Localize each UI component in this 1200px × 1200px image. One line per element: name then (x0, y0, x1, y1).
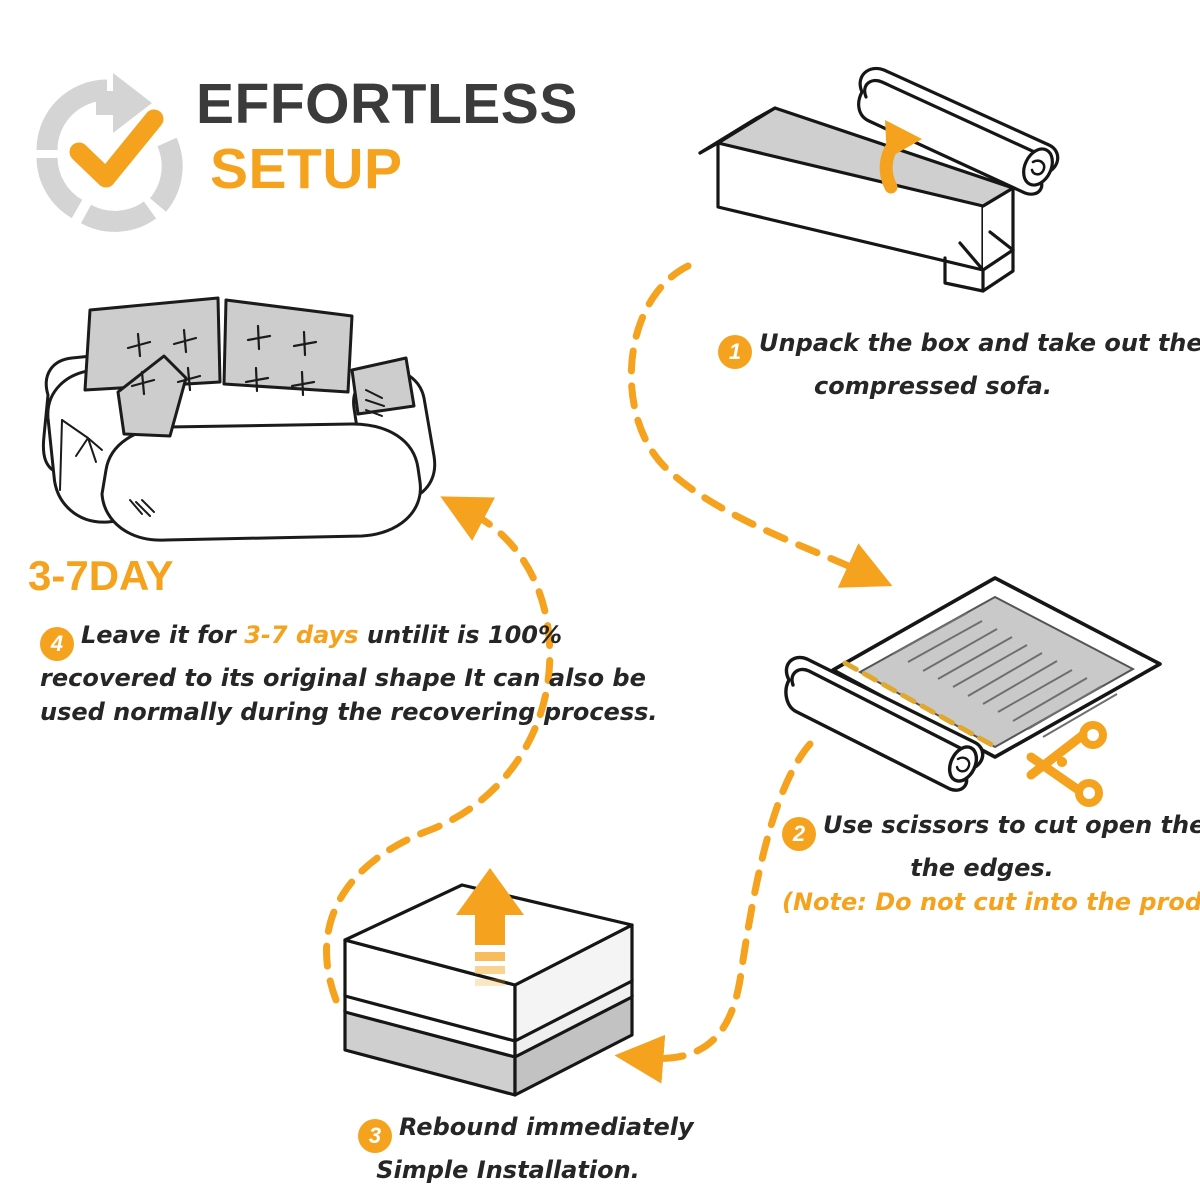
step-1-text-line-1: Unpack the box and take out the (759, 329, 1200, 357)
scissors-icon (1031, 725, 1103, 803)
page-title-line2: SETUP (210, 141, 626, 198)
step-4-line-3: used normally during the recovering proc… (40, 695, 470, 729)
step-3-line-2: Simple Installation. (358, 1153, 658, 1187)
body-text: used normally during the recovering proc… (40, 698, 658, 726)
step-4-line-1: 4Leave it for 3-7 days untilit is 100% (40, 618, 470, 661)
step-1-line-2: compressed sofa. (718, 369, 1148, 403)
day-range-heading: 3-7DAY (28, 552, 174, 600)
highlight-text: 3-7 days (244, 621, 358, 649)
step-1-text: 1Unpack the box and take out the compres… (718, 326, 1148, 403)
step-3-text: 3Rebound immediately Simple Installation… (358, 1110, 658, 1187)
step-3-text-line-1: Rebound immediately (399, 1113, 694, 1141)
step-number-badge: 2 (782, 817, 816, 851)
step-2-line-2: the edges. (782, 851, 1182, 885)
step-number-badge: 3 (358, 1119, 392, 1153)
step-number-badge: 4 (40, 627, 74, 661)
header: EFFORTLESS SETUP (196, 76, 626, 198)
step-4-text-line-1: Leave it for 3-7 days untilit is 100% (81, 621, 562, 649)
step-1-line-1: 1Unpack the box and take out the (718, 326, 1148, 369)
body-text: Leave it for (81, 621, 244, 649)
body-text: untilit is 100% (359, 621, 563, 649)
step-number-badge: 1 (718, 335, 752, 369)
circular-arrow-check-icon (47, 73, 172, 221)
arrow-box-to-bag (631, 266, 862, 572)
step-2-text-line-1: Use scissors to cut open the bag along (823, 811, 1200, 839)
page-title-line1: EFFORTLESS (196, 76, 626, 133)
step-2-text: 2Use scissors to cut open the bag along … (782, 808, 1182, 919)
sofa-icon (43, 298, 434, 540)
step-4-line-2: recovered to its original shape It can a… (40, 661, 470, 695)
step-2-line-1: 2Use scissors to cut open the bag along (782, 808, 1182, 851)
body-text: recovered to its original shape It can a… (40, 664, 646, 692)
step-2-note: (Note: Do not cut into the products) (782, 885, 1182, 919)
infographic-canvas: EFFORTLESS SETUP 3-7DAY 1Unpack the box … (0, 0, 1200, 1200)
step-4-text: 4Leave it for 3-7 days untilit is 100% r… (40, 618, 470, 729)
step-3-line-1: 3Rebound immediately (358, 1110, 658, 1153)
